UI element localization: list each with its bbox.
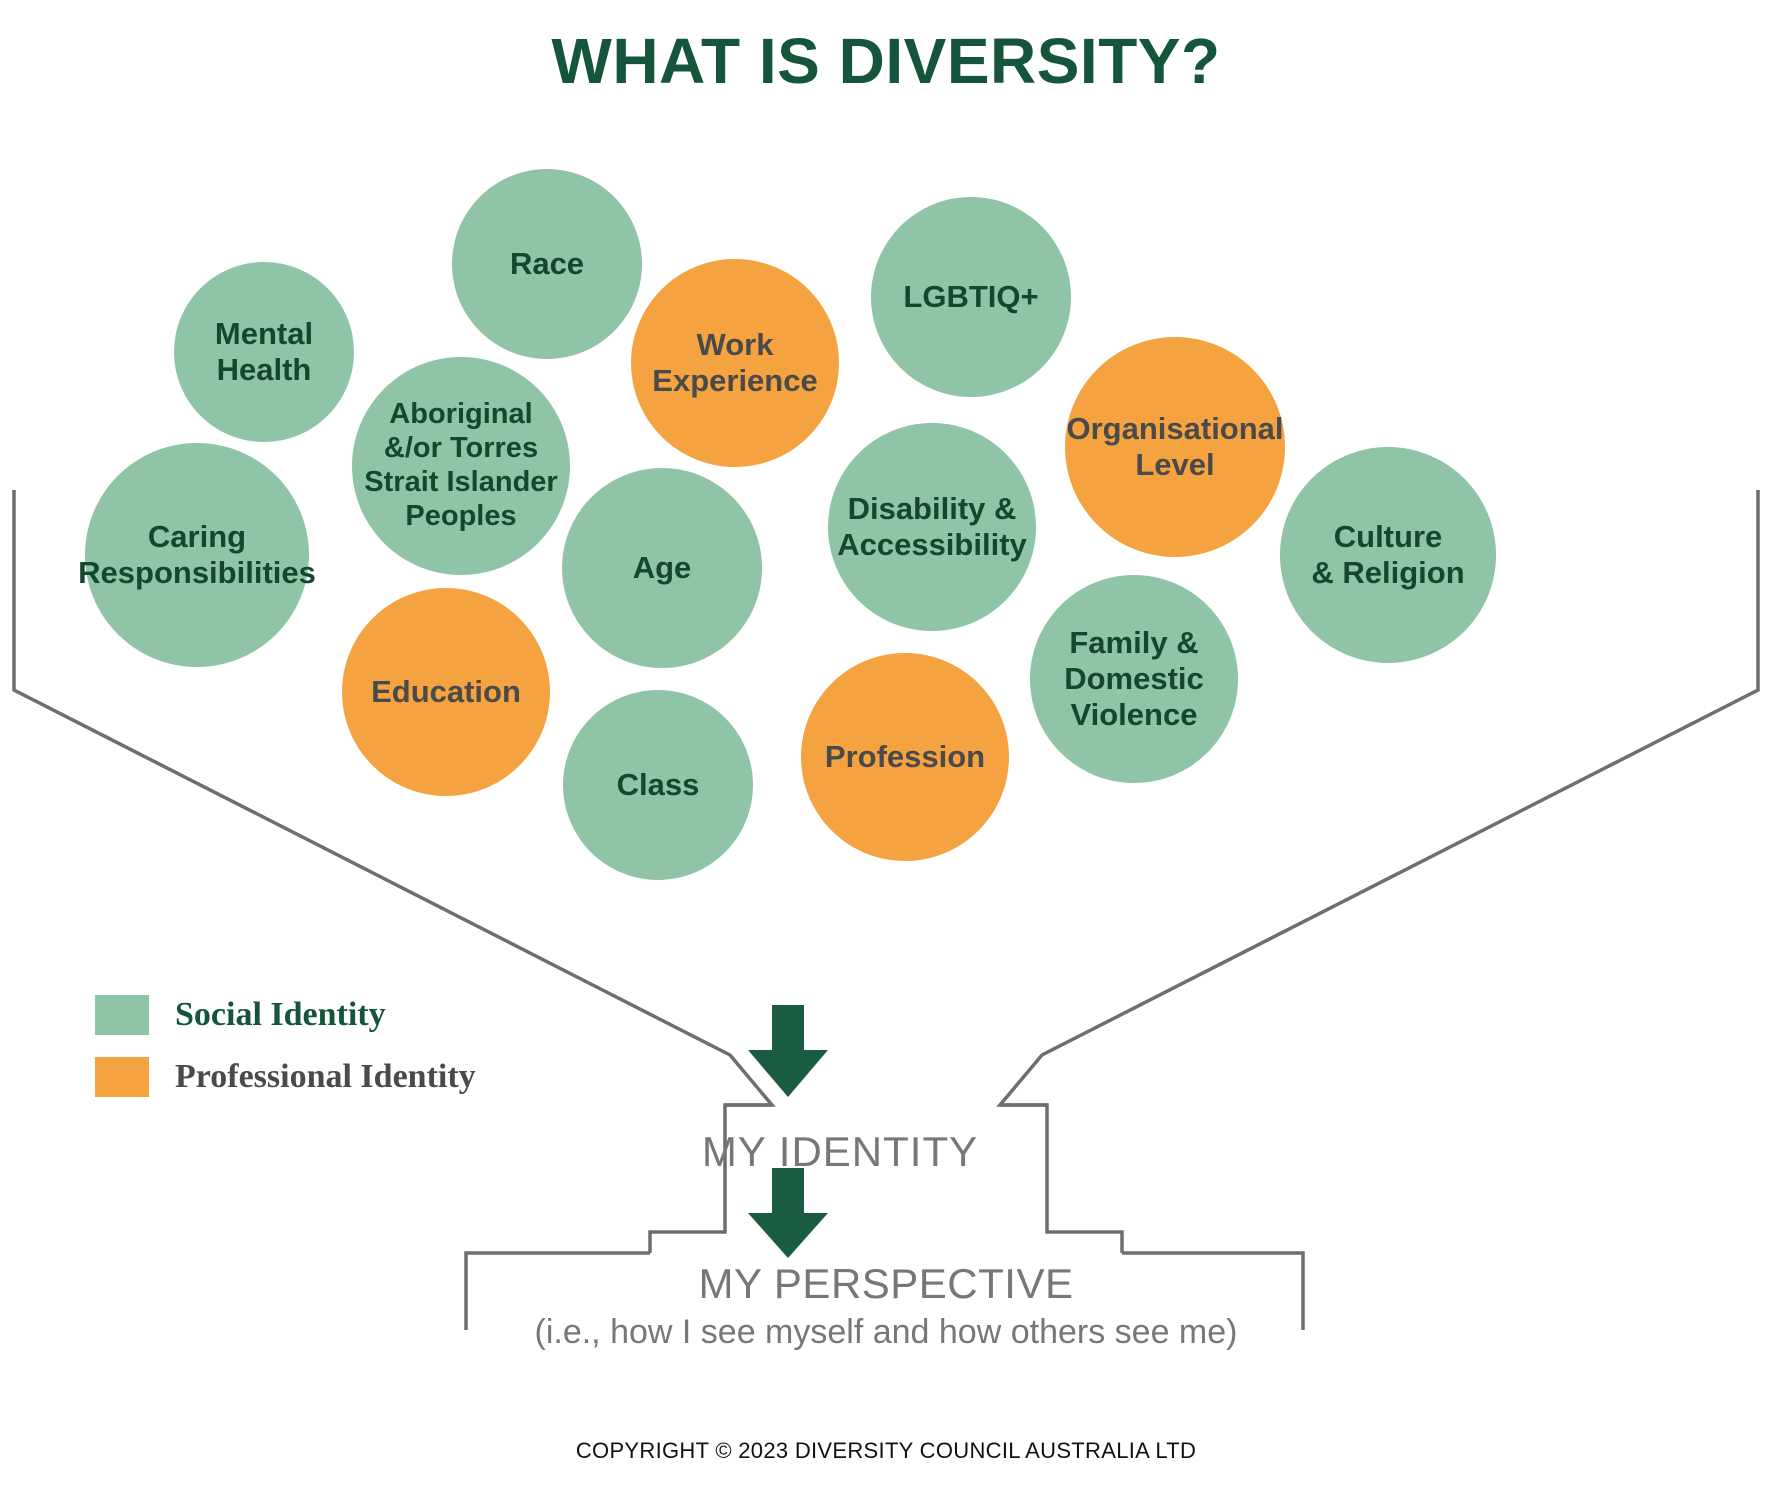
legend-item-social: Social Identity: [95, 995, 476, 1035]
diversity-bubble: Caring Responsibilities: [85, 443, 309, 667]
legend-swatch-social-icon: [95, 995, 149, 1035]
diversity-bubble: Culture & Religion: [1280, 447, 1496, 663]
page-title: WHAT IS DIVERSITY?: [0, 24, 1772, 98]
legend: Social Identity Professional Identity: [95, 995, 476, 1119]
diversity-bubble: Aboriginal &/or Torres Strait Islander P…: [352, 357, 570, 575]
diversity-bubble-label: Aboriginal &/or Torres Strait Islander P…: [364, 398, 557, 534]
diversity-bubble: Family & Domestic Violence: [1030, 575, 1238, 783]
diversity-bubble-label: Profession: [825, 739, 985, 775]
copyright-notice: COPYRIGHT © 2023 DIVERSITY COUNCIL AUSTR…: [0, 1438, 1772, 1464]
diversity-bubble: LGBTIQ+: [871, 197, 1071, 397]
diversity-bubble: Mental Health: [174, 262, 354, 442]
diversity-bubble: Education: [342, 588, 550, 796]
diversity-bubble: Age: [562, 468, 762, 668]
diversity-bubble-label: Race: [510, 246, 584, 282]
my-perspective-block: MY PERSPECTIVE (i.e., how I see myself a…: [466, 1260, 1306, 1353]
diversity-bubble: Profession: [801, 653, 1009, 861]
arrow-down-to-identity: [748, 1005, 828, 1097]
diversity-bubble-label: Mental Health: [215, 316, 313, 389]
diversity-bubble-label: Culture & Religion: [1311, 519, 1464, 592]
diagram-canvas: WHAT IS DIVERSITY? Mental HealthRaceWork…: [0, 0, 1772, 1509]
my-perspective-label: MY PERSPECTIVE: [466, 1260, 1306, 1308]
diversity-bubble: Work Experience: [631, 259, 839, 467]
diversity-bubble-label: Age: [633, 550, 692, 586]
my-perspective-sublabel: (i.e., how I see myself and how others s…: [466, 1312, 1306, 1353]
diversity-bubble-label: Caring Responsibilities: [78, 519, 316, 592]
diversity-bubble: Race: [452, 169, 642, 359]
diversity-bubble-label: Work Experience: [652, 327, 817, 400]
legend-label-social: Social Identity: [175, 996, 386, 1034]
diversity-bubble-label: Organisational Level: [1066, 411, 1283, 484]
diversity-bubble: Organisational Level: [1065, 337, 1285, 557]
my-identity-label: MY IDENTITY: [700, 1128, 980, 1176]
diversity-bubble-label: Education: [371, 674, 521, 710]
legend-label-professional: Professional Identity: [175, 1058, 476, 1096]
diversity-bubble-label: Family & Domestic Violence: [1064, 625, 1204, 734]
diversity-bubble: Disability & Accessibility: [828, 423, 1036, 631]
diversity-bubble: Class: [563, 690, 753, 880]
diversity-bubble-label: Class: [617, 767, 700, 803]
diversity-bubble-label: Disability & Accessibility: [837, 491, 1027, 564]
arrow-down-to-perspective: [748, 1168, 828, 1258]
legend-swatch-professional-icon: [95, 1057, 149, 1097]
legend-item-professional: Professional Identity: [95, 1057, 476, 1097]
diversity-bubble-label: LGBTIQ+: [903, 279, 1038, 315]
